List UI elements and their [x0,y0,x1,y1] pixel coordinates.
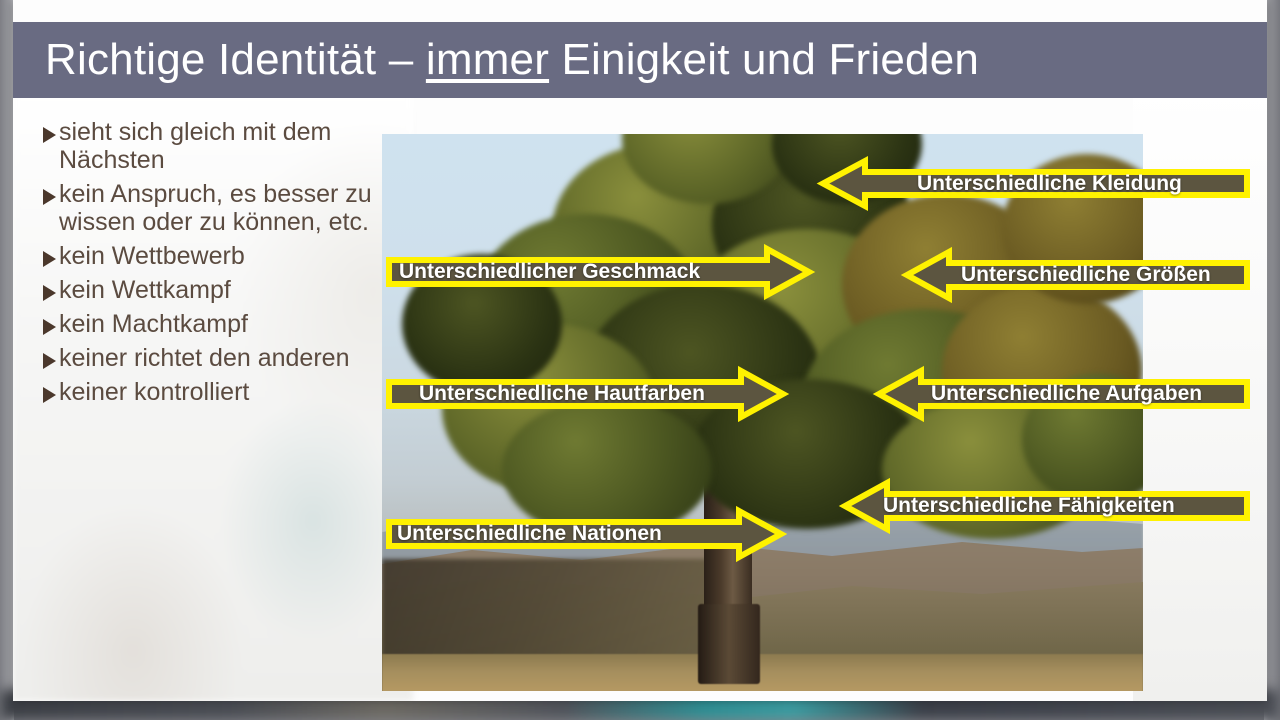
callout-arrow-hautfarben[interactable]: Unterschiedliche Hautfarben [385,367,787,421]
triangle-bullet-icon [43,251,56,267]
triangle-bullet-icon [43,353,56,369]
list-item-label: sieht sich gleich mit dem Nächsten [59,118,373,174]
presentation-slide: Richtige Identität – immer Einigkeit und… [13,0,1267,701]
triangle-bullet-icon [43,189,56,205]
photo-grass [382,654,1143,691]
callout-arrow-kleidung[interactable]: Unterschiedliche Kleidung [819,157,1251,210]
triangle-bullet-icon [43,127,56,143]
callout-arrow-faehigkeiten[interactable]: Unterschiedliche Fähigkeiten [841,479,1251,533]
list-item: keiner kontrolliert [43,378,373,406]
list-item: kein Wettbewerb [43,242,373,270]
callout-arrow-geschmack[interactable]: Unterschiedlicher Geschmack [385,245,813,299]
list-item-label: kein Machtkampf [59,310,248,338]
title-text-emphasis: immer [426,35,549,84]
list-item: kein Machtkampf [43,310,373,338]
triangle-bullet-icon [43,285,56,301]
slide-title-bar: Richtige Identität – immer Einigkeit und… [13,22,1267,98]
title-text-part1: Richtige Identität – [45,35,426,84]
callout-arrow-nationen[interactable]: Unterschiedliche Nationen [385,507,785,561]
title-text-part2: Einigkeit und Frieden [549,35,979,84]
callout-arrow-groessen[interactable]: Unterschiedliche Größen [903,248,1251,302]
bullet-list: sieht sich gleich mit dem Nächsten kein … [43,118,373,412]
page-title: Richtige Identität – immer Einigkeit und… [13,35,979,85]
callout-arrow-aufgaben[interactable]: Unterschiedliche Aufgaben [875,367,1251,421]
list-item-label: kein Wettkampf [59,276,231,304]
backdrop-left-edge [0,0,14,720]
list-item: kein Wettkampf [43,276,373,304]
triangle-bullet-icon [43,387,56,403]
triangle-bullet-icon [43,319,56,335]
list-item-label: keiner richtet den anderen [59,344,349,372]
list-item: kein Anspruch, es besser zu wissen oder … [43,180,373,236]
photo-tree-trunk-base [698,604,760,684]
list-item: keiner richtet den anderen [43,344,373,372]
list-item-label: keiner kontrolliert [59,378,249,406]
list-item-label: kein Anspruch, es besser zu wissen oder … [59,180,373,236]
list-item-label: kein Wettbewerb [59,242,245,270]
list-item: sieht sich gleich mit dem Nächsten [43,118,373,174]
